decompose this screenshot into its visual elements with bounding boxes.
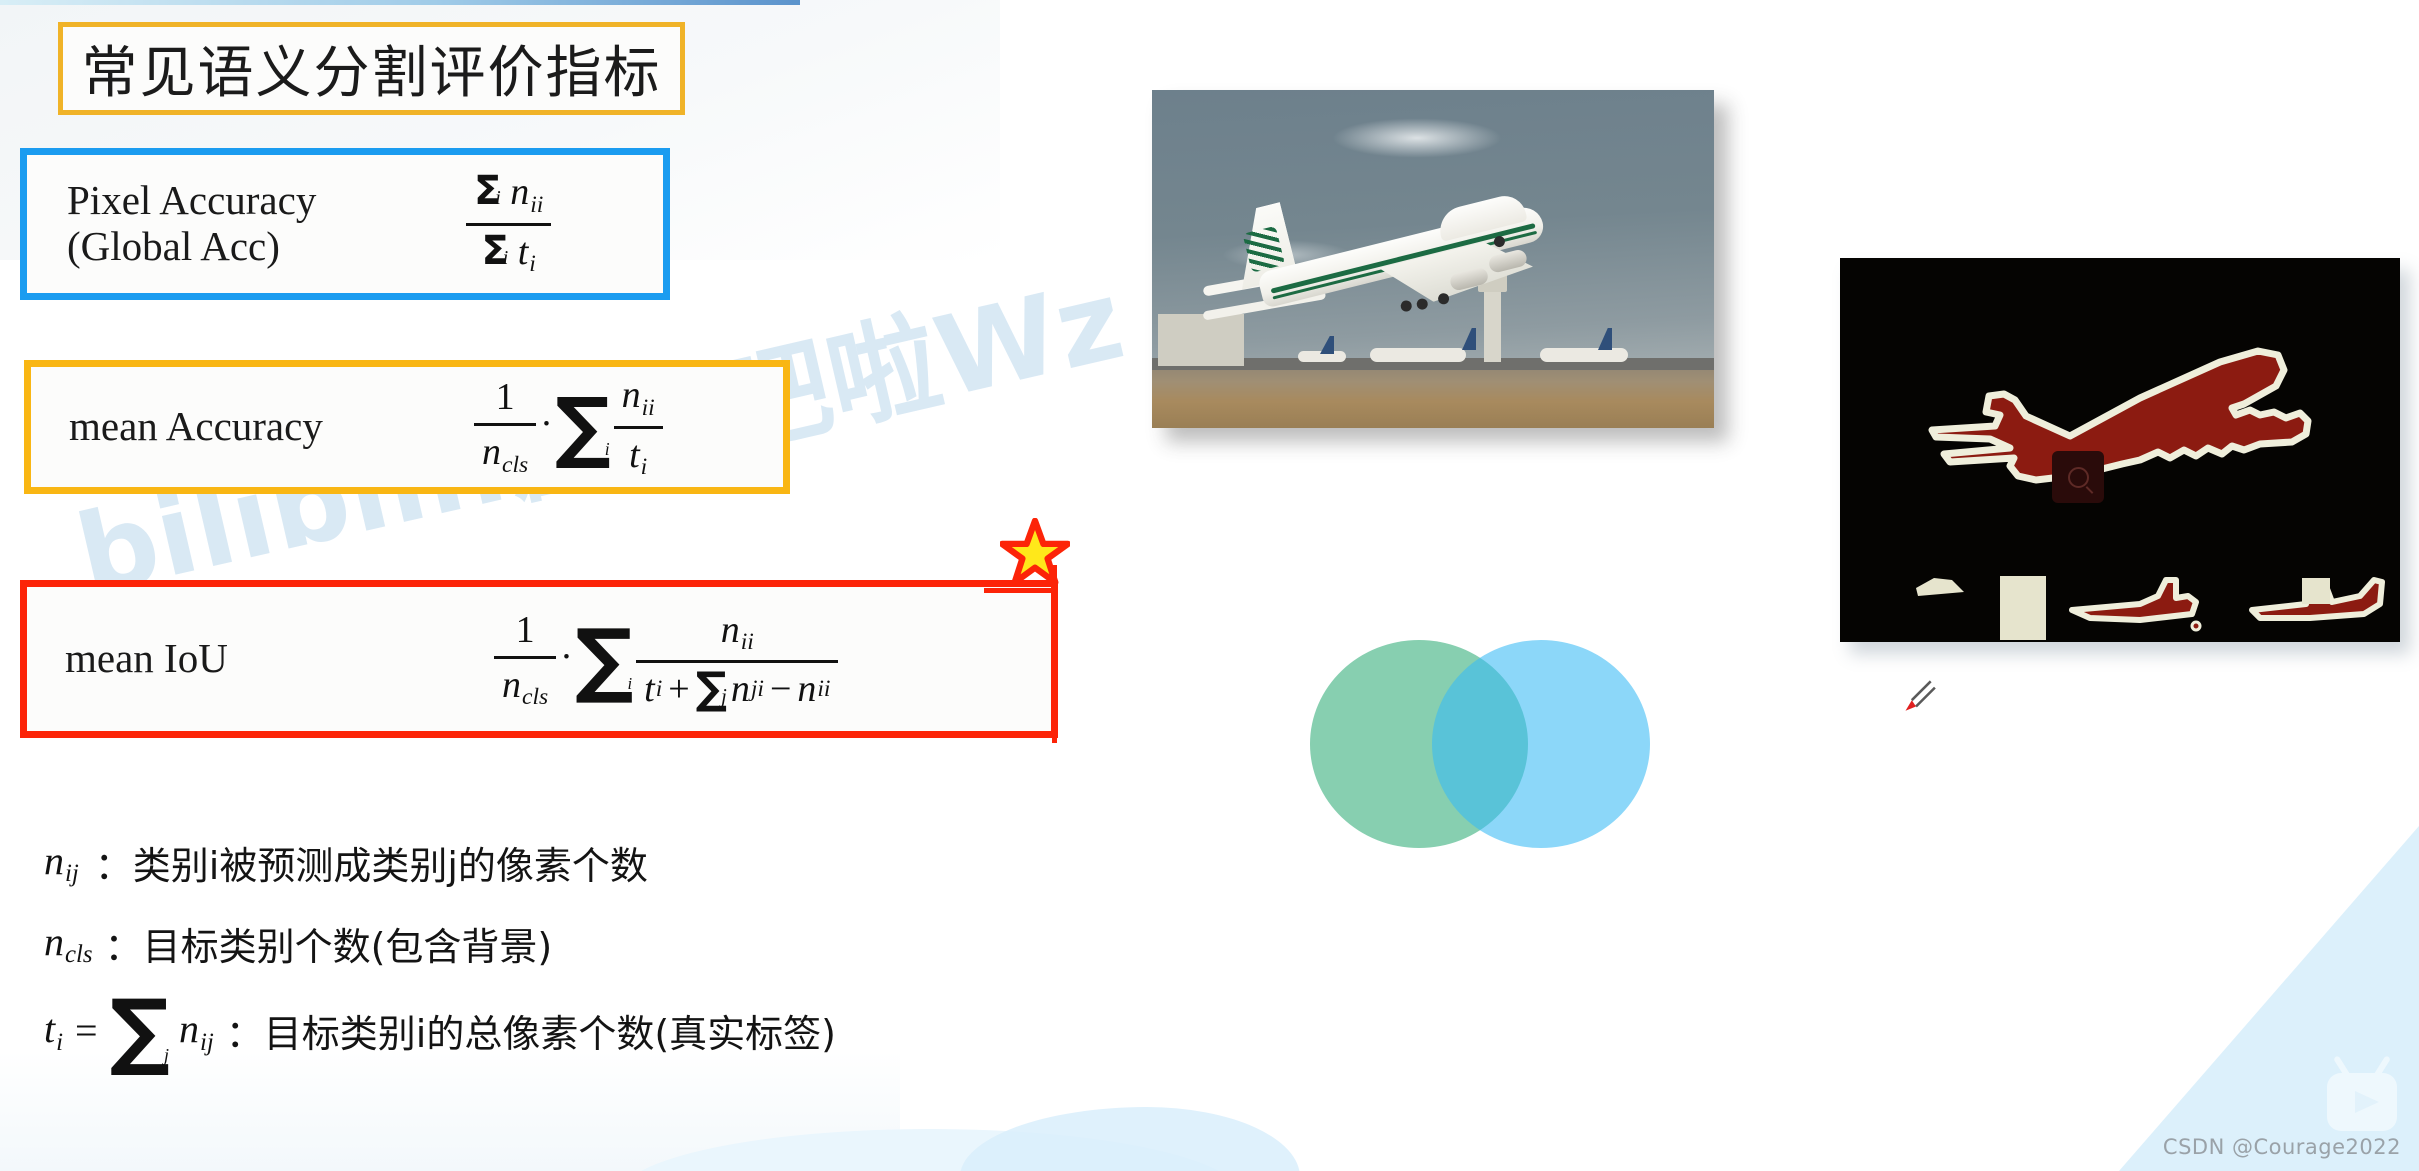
- iou-term-numerator-sub: ii: [741, 629, 754, 655]
- iou-den-n2-sub: ii: [817, 676, 830, 703]
- slide-canvas: bilibili:霹雷吧啦Wz 常见语义分割评价指标 Pixel Accurac…: [0, 0, 2419, 1171]
- big-sum-glyph: ∑: [555, 396, 611, 458]
- definition-symbol-sub: ij: [65, 860, 79, 887]
- definition-equals: =: [75, 1007, 98, 1054]
- formula-mean-iou: 1 ncls · ∑ i nii ti + ∑j nji − nii: [490, 583, 842, 736]
- photo-parked-aircraft: [1540, 348, 1628, 362]
- segmentation-mask-image: [1840, 258, 2400, 642]
- sum-index: i: [495, 187, 501, 209]
- csdn-watermark: CSDN @Courage2022: [2163, 1135, 2401, 1159]
- term-denominator-sub: i: [641, 454, 648, 480]
- photo-terminal-building: [1158, 314, 1244, 366]
- search-icon: [2052, 451, 2104, 503]
- pencil-icon: [1895, 675, 1937, 717]
- definition-row-ncls: ncls ： 目标类别个数(包含背景): [44, 916, 1344, 971]
- definition-symbol-sub: cls: [65, 941, 93, 968]
- definition-text: 类别i被预测成类别j的像素个数: [133, 835, 648, 890]
- iou-den-t-sub: i: [656, 676, 663, 703]
- metric-label-mean-iou: mean IoU: [27, 636, 228, 682]
- iou-big-sum-glyph: ∑: [575, 627, 634, 692]
- metric-box-pixel-accuracy: Pixel Accuracy (Global Acc): [20, 148, 670, 300]
- iou-den-sum-index: j: [721, 684, 727, 709]
- definition-text: 目标类别个数(包含背景): [143, 916, 553, 971]
- iou-multiplication-dot: ·: [560, 635, 573, 679]
- mask-svg: [1840, 258, 2400, 642]
- numerator-term-sub: ii: [530, 192, 543, 218]
- iou-den-n-sub: ji: [751, 676, 764, 703]
- photo-cloud: [1332, 118, 1502, 158]
- iou-big-sum-index: i: [627, 674, 632, 694]
- multiplication-dot: ·: [540, 402, 553, 446]
- definition-row-nij: nij ： 类别i被预测成类别j的像素个数: [44, 835, 1344, 890]
- iou-den-n: n: [731, 667, 750, 711]
- formula-pixel-accuracy: Σi nii Σi ti: [462, 150, 555, 298]
- definition-colon: ：: [105, 916, 143, 971]
- term-numerator: n: [622, 374, 641, 416]
- top-progress-bar: [0, 0, 800, 5]
- venn-circle-groundtruth: [1432, 640, 1650, 848]
- slide-title-box: 常见语义分割评价指标: [58, 22, 685, 115]
- iou-den-t: t: [644, 667, 655, 711]
- iou-coeff-numerator: 1: [508, 608, 543, 652]
- annotation-line-horizontal: [984, 588, 1056, 593]
- jet-landing-gear: [1400, 299, 1413, 312]
- definition-sum-term-sub: ij: [200, 1029, 214, 1056]
- denominator-term-sub: i: [529, 251, 536, 277]
- definition-sum-term: n: [179, 1006, 199, 1051]
- definition-colon: ：: [226, 1003, 264, 1058]
- coeff-denominator: n: [482, 431, 501, 473]
- definition-row-ti: ti = ∑ j nij ： 目标类别i的总像素个数(真实标签): [44, 997, 1344, 1064]
- definition-text: 目标类别i的总像素个数(真实标签): [264, 1003, 836, 1058]
- metric-box-mean-accuracy: mean Accuracy: [24, 360, 790, 494]
- term-numerator-sub: ii: [642, 395, 655, 421]
- annotation-line-vertical: [1052, 565, 1057, 743]
- metric-label-line2: (Global Acc): [67, 224, 316, 270]
- iou-den-minus: −: [770, 667, 791, 711]
- denominator-term: t: [518, 231, 529, 273]
- jet-landing-gear: [1416, 297, 1429, 310]
- airplane-photo: [1152, 90, 1714, 428]
- coeff-numerator: 1: [488, 375, 523, 419]
- metric-label-mean-accuracy: mean Accuracy: [31, 404, 323, 450]
- page-title: 常见语义分割评价指标: [82, 28, 662, 109]
- definition-symbol: n: [44, 838, 64, 883]
- photo-ground: [1152, 362, 1714, 428]
- iou-den-plus: +: [668, 667, 689, 711]
- sum-index-denominator: i: [503, 247, 509, 269]
- iou-coeff-denominator-sub: cls: [522, 684, 548, 710]
- definition-symbol-sub: i: [56, 1029, 63, 1056]
- definitions-list: nij ： 类别i被预测成类别j的像素个数 ncls ： 目标类别个数(包含背景…: [44, 835, 1344, 1090]
- metric-label-line1: Pixel Accuracy: [67, 178, 316, 224]
- iou-coeff-denominator: n: [502, 664, 521, 706]
- star-icon: [1000, 518, 1070, 588]
- definition-symbol: n: [44, 919, 64, 964]
- bilibili-logo-icon: [2319, 1047, 2405, 1143]
- big-sum-index: i: [605, 439, 610, 460]
- numerator-term: n: [510, 171, 529, 213]
- formula-mean-accuracy: 1 ncls · ∑ i nii ti: [470, 362, 667, 492]
- coeff-denominator-sub: cls: [502, 452, 528, 478]
- metric-label-pixel-accuracy: Pixel Accuracy (Global Acc): [27, 178, 316, 270]
- photo-parked-aircraft: [1370, 348, 1466, 362]
- background-hill-front: [960, 1107, 1300, 1171]
- definition-symbol: t: [44, 1006, 55, 1051]
- iou-venn-diagram: [1310, 640, 1650, 848]
- iou-den-n2: n: [797, 667, 816, 711]
- iou-term-numerator: n: [721, 609, 740, 651]
- definition-sum-index: j: [164, 1045, 169, 1066]
- definition-sum-glyph: ∑: [110, 997, 170, 1064]
- term-denominator: t: [629, 434, 640, 476]
- definition-colon: ：: [95, 835, 133, 890]
